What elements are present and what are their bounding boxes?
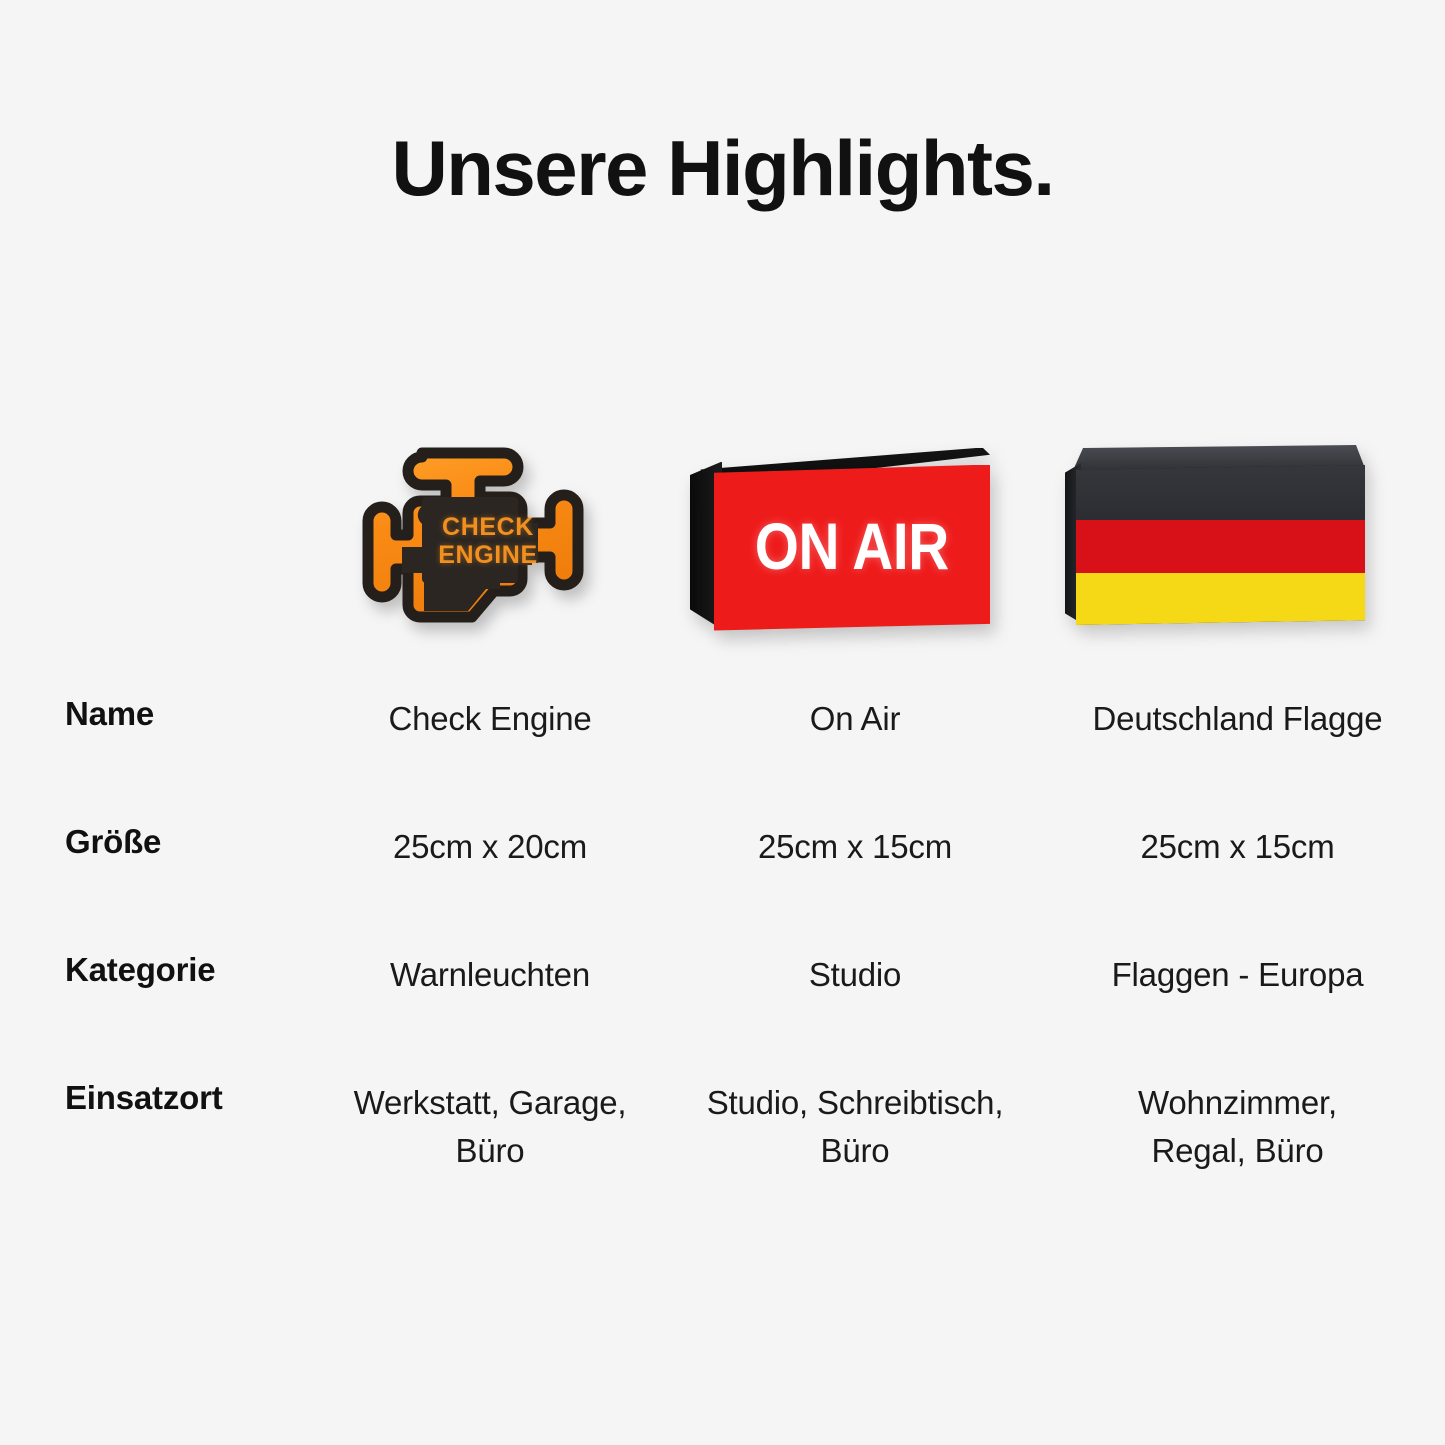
check-engine-icon [330, 431, 640, 649]
flag-front-face [1076, 465, 1365, 625]
cell-kategorie-check-engine: Warnleuchten [300, 951, 680, 999]
table-row: Einsatzort Werkstatt, Garage, Büro Studi… [0, 1079, 1445, 1239]
cell-kategorie-deutschland-flagge: Flaggen - Europa [1030, 951, 1445, 999]
row-label-groesse: Größe [0, 823, 300, 861]
germany-flag-sign [1065, 445, 1365, 635]
on-air-front-face: ON AIR [714, 465, 990, 631]
highlights-comparison-page: Unsere Highlights. [0, 0, 1445, 1445]
cell-groesse-deutschland-flagge: 25cm x 15cm [1030, 823, 1445, 871]
cell-groesse-check-engine: 25cm x 20cm [300, 823, 680, 871]
flag-band-gold [1076, 573, 1365, 625]
on-air-sign-text: ON AIR [755, 508, 949, 584]
product-image-row: CHECK ENGINE ON AIR [0, 415, 1445, 665]
cell-groesse-on-air: 25cm x 15cm [680, 823, 1030, 871]
flag-band-black [1076, 465, 1365, 520]
cell-name-deutschland-flagge: Deutschland Flagge [1030, 695, 1445, 743]
table-row: Kategorie Warnleuchten Studio Flaggen - … [0, 951, 1445, 1079]
spec-table: Name Check Engine On Air Deutschland Fla… [0, 695, 1445, 1239]
cell-einsatzort-on-air: Studio, Schreibtisch, Büro [680, 1079, 1030, 1175]
cell-name-check-engine: Check Engine [300, 695, 680, 743]
product-image-on-air[interactable]: ON AIR [660, 415, 1020, 665]
cell-einsatzort-deutschland-flagge: Wohnzimmer, Regal, Büro [1030, 1079, 1445, 1175]
on-air-sign: ON AIR [690, 448, 990, 633]
row-label-kategorie: Kategorie [0, 951, 300, 989]
table-row: Name Check Engine On Air Deutschland Fla… [0, 695, 1445, 823]
product-image-deutschland-flagge[interactable] [1030, 415, 1400, 665]
row-label-name: Name [0, 695, 300, 733]
cell-kategorie-on-air: Studio [680, 951, 1030, 999]
check-engine-sign: CHECK ENGINE [330, 431, 640, 649]
page-title: Unsere Highlights. [0, 128, 1445, 210]
product-image-check-engine[interactable]: CHECK ENGINE [290, 415, 680, 665]
cell-name-on-air: On Air [680, 695, 1030, 743]
row-label-einsatzort: Einsatzort [0, 1079, 300, 1117]
flag-band-red [1076, 520, 1365, 573]
cell-einsatzort-check-engine: Werkstatt, Garage, Büro [300, 1079, 680, 1175]
table-row: Größe 25cm x 20cm 25cm x 15cm 25cm x 15c… [0, 823, 1445, 951]
